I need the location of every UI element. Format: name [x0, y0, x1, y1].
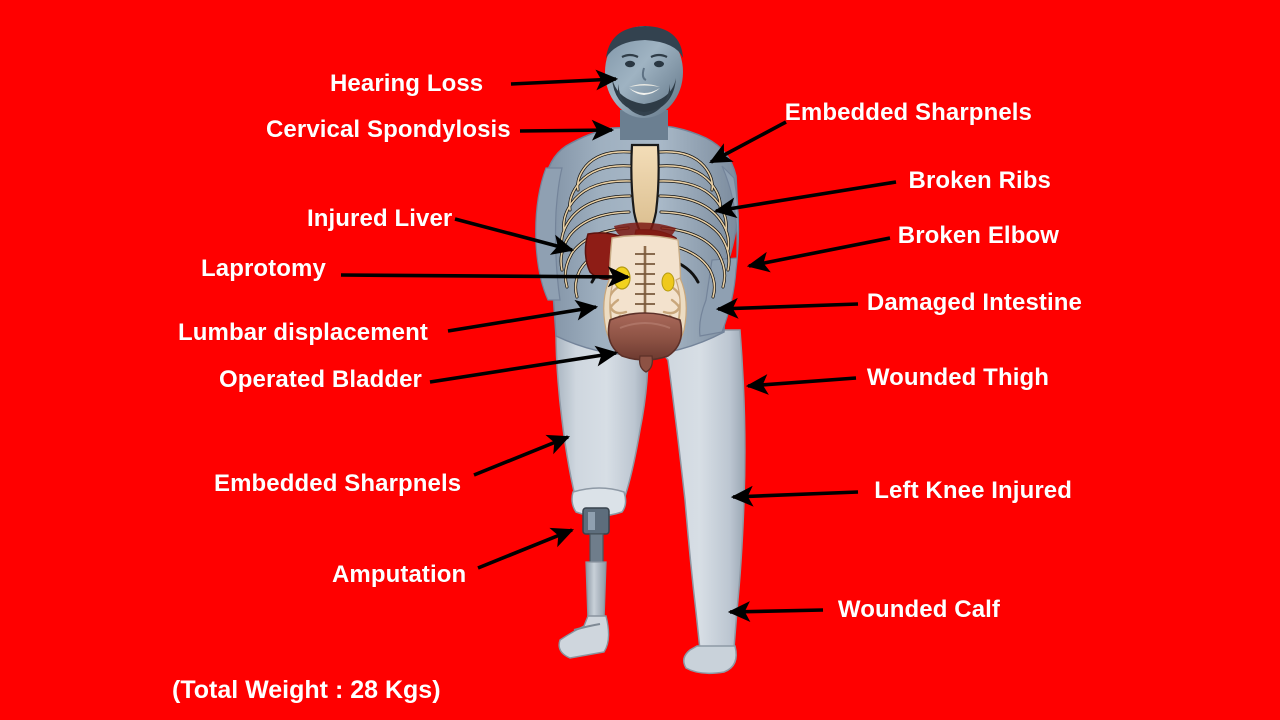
label-operated-bladder: Operated Bladder	[219, 368, 422, 392]
label-cervical-spondylosis: Cervical Spondylosis	[266, 118, 511, 142]
label-broken-ribs: Broken Ribs	[909, 169, 1051, 193]
pointer-arrow	[341, 275, 628, 277]
label-hearing-loss: Hearing Loss	[330, 72, 483, 96]
pointer-arrow	[520, 130, 612, 131]
label-damaged-intestine: Damaged Intestine	[867, 291, 1082, 315]
pointer-arrow	[716, 182, 896, 211]
pointer-arrow	[430, 353, 616, 382]
pointer-arrow	[711, 122, 786, 162]
pointer-arrow	[748, 378, 856, 386]
pointer-arrow	[478, 530, 572, 568]
pointer-arrow	[474, 437, 568, 475]
total-weight-caption: (Total Weight : 28 Kgs)	[172, 676, 441, 705]
pointer-arrow	[730, 610, 823, 612]
label-embedded-sharpnels-shoulder: Embedded Sharpnels	[785, 101, 1032, 125]
label-embedded-sharpnels-leg: Embedded Sharpnels	[214, 472, 461, 496]
label-broken-elbow: Broken Elbow	[898, 224, 1059, 248]
pointer-arrow	[511, 79, 616, 84]
pointer-arrow	[749, 238, 890, 266]
label-lumbar-displacement: Lumbar displacement	[178, 321, 428, 345]
pointer-arrow	[448, 307, 596, 331]
label-left-knee-injured: Left Knee Injured	[874, 479, 1072, 503]
label-amputation: Amputation	[332, 563, 466, 587]
label-injured-liver: Injured Liver	[307, 207, 452, 231]
label-laprotomy: Laprotomy	[201, 257, 326, 281]
label-wounded-calf: Wounded Calf	[838, 598, 1000, 622]
label-wounded-thigh: Wounded Thigh	[867, 366, 1049, 390]
diagram-canvas: Hearing LossCervical SpondylosisInjured …	[0, 0, 1280, 720]
arrow-layer	[0, 0, 1280, 720]
pointer-arrow	[718, 304, 858, 309]
pointer-arrow	[455, 219, 572, 250]
pointer-arrow	[733, 492, 858, 497]
